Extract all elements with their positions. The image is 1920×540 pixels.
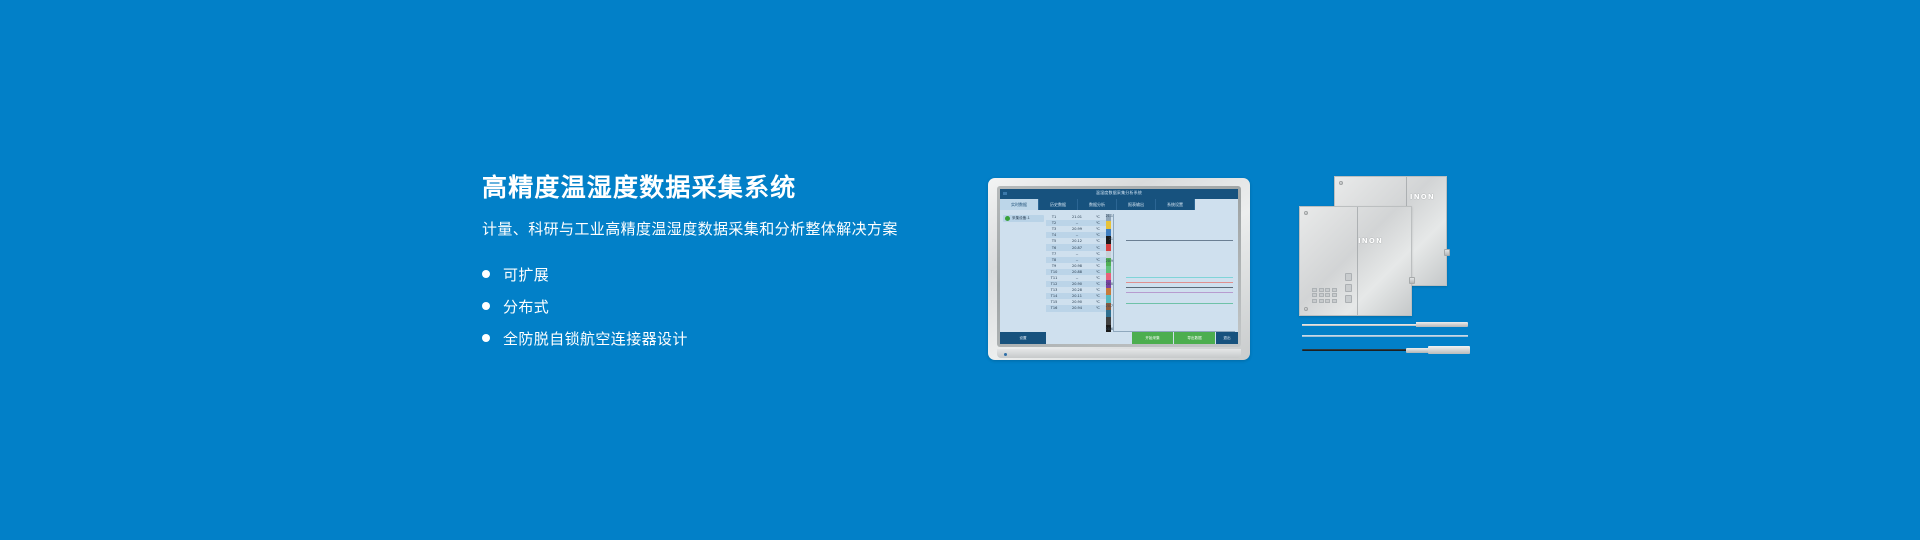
tab-bar-filler: [1195, 199, 1238, 210]
table-cell-value: 20.11: [1062, 294, 1092, 298]
device-status-icon: [1005, 216, 1010, 221]
list-item: 可扩展: [482, 258, 1042, 290]
screw-icon: [1304, 211, 1308, 215]
table-cell-value: 20.28: [1062, 288, 1092, 292]
app-body: 采集设备-1 T121.01℃T2--℃T320.99℃T4--℃T520.12…: [1000, 210, 1238, 332]
brand-logo: INON: [1410, 193, 1435, 201]
probe-shaft: [1302, 335, 1468, 337]
exit-button[interactable]: 退出: [1216, 332, 1238, 344]
table-cell-ch: T9: [1046, 264, 1062, 268]
chart-trace: [1126, 282, 1233, 283]
module-seam: [1357, 207, 1358, 315]
chart-trace: [1126, 287, 1233, 288]
app-menu-icon[interactable]: [1003, 192, 1007, 195]
probe-handle: [1416, 322, 1468, 327]
chart-trace: [1126, 303, 1233, 304]
bullet-dot-icon: [482, 270, 490, 278]
feature-label: 可扩展: [503, 264, 549, 285]
list-item: 分布式: [482, 290, 1042, 322]
y-tick-label: 20.6: [1102, 327, 1113, 331]
table-cell-value: --: [1062, 252, 1092, 256]
button-bar-spacer: [1046, 332, 1132, 344]
y-tick-label: 21: [1102, 237, 1113, 241]
table-cell-ch: T7: [1046, 252, 1062, 256]
banner-copy: 高精度温湿度数据采集系统 计量、科研与工业高精度温湿度数据采集和分析整体解决方案…: [482, 174, 1042, 354]
table-cell-ch: T6: [1046, 246, 1062, 250]
app-title-bar: 温湿度数据采集分析系统: [1000, 189, 1238, 199]
settings-button[interactable]: 设置: [1000, 332, 1046, 344]
list-item: 全防脱自锁航空连接器设计: [482, 322, 1042, 354]
temperature-probe-steel: [1302, 322, 1468, 327]
export-data-button[interactable]: 导出数据: [1174, 332, 1216, 344]
tab-report[interactable]: 报表输出: [1117, 199, 1156, 210]
table-cell-value: 20.87: [1062, 246, 1092, 250]
monitor-screen: 温湿度数据采集分析系统 实时数据 历史数据 数据分析 报表输出 系统设置: [1000, 189, 1238, 344]
page-title: 高精度温湿度数据采集系统: [482, 174, 1042, 203]
tab-bar: 实时数据 历史数据 数据分析 报表输出 系统设置: [1000, 199, 1238, 210]
y-tick-label: 20.8: [1102, 282, 1113, 286]
product-banner: 高精度温湿度数据采集系统 计量、科研与工业高精度温湿度数据采集和分析整体解决方案…: [0, 0, 1920, 540]
table-cell-value: 20.88: [1062, 270, 1092, 274]
trend-chart: 21.12120.920.820.720.6 10:0010:1010:2010…: [1113, 214, 1235, 332]
power-led-icon: [1004, 353, 1007, 356]
hardware-group: INON INON: [1296, 174, 1486, 369]
probe-ferrule: [1406, 348, 1430, 354]
device-tree-panel: 采集设备-1: [1000, 210, 1046, 332]
connector-port: [1409, 277, 1415, 284]
screw-icon: [1339, 181, 1343, 185]
y-tick-label: 21.1: [1102, 214, 1113, 218]
table-cell-value: --: [1062, 276, 1092, 280]
app-button-bar: 设置 开始采集 导出数据 退出: [1000, 332, 1238, 344]
table-cell-ch: T1: [1046, 215, 1062, 219]
table-cell-value: 20.99: [1062, 227, 1092, 231]
chart-trace: [1126, 277, 1233, 278]
tab-analysis[interactable]: 数据分析: [1078, 199, 1117, 210]
table-cell-ch: T8: [1046, 258, 1062, 262]
table-cell-ch: T14: [1046, 294, 1062, 298]
y-tick-label: 20.7: [1102, 304, 1113, 308]
screw-icon: [1304, 307, 1308, 311]
monitor-device: 温湿度数据采集分析系统 实时数据 历史数据 数据分析 报表输出 系统设置: [988, 178, 1250, 360]
tree-node-device[interactable]: 采集设备-1: [1003, 215, 1044, 222]
table-cell-ch: T2: [1046, 221, 1062, 225]
table-cell-ch: T10: [1046, 270, 1062, 274]
connector-port: [1444, 249, 1450, 256]
table-cell-value: --: [1062, 233, 1092, 237]
table-cell-value: --: [1062, 221, 1092, 225]
table-cell-value: 21.01: [1062, 215, 1092, 219]
monitor-outer-bezel: 温湿度数据采集分析系统 实时数据 历史数据 数据分析 报表输出 系统设置: [988, 178, 1250, 360]
monitor-stand-foot: [997, 349, 1241, 358]
feature-list: 可扩展 分布式 全防脱自锁航空连接器设计: [482, 258, 1042, 354]
table-cell-value: 20.98: [1062, 264, 1092, 268]
chart-y-axis: 21.12120.920.820.720.6: [1102, 214, 1114, 331]
monitor-inner-bezel: 温湿度数据采集分析系统 实时数据 历史数据 数据分析 报表输出 系统设置: [997, 186, 1241, 347]
bullet-dot-icon: [482, 334, 490, 342]
table-cell-ch: T11: [1046, 276, 1062, 280]
chart-trace: [1126, 292, 1233, 293]
temperature-probe-cabled: [1302, 346, 1468, 354]
feature-label: 全防脱自锁航空连接器设计: [503, 328, 688, 349]
table-cell-ch: T12: [1046, 282, 1062, 286]
port-bank-icon: [1345, 273, 1352, 303]
probe-cable: [1302, 349, 1410, 351]
temperature-probe-thin: [1302, 334, 1468, 337]
tab-realtime[interactable]: 实时数据: [1000, 199, 1039, 210]
tree-node-label: 采集设备-1: [1012, 216, 1030, 221]
probe-body: [1428, 346, 1470, 354]
acquisition-module-front: INON: [1299, 206, 1412, 316]
channel-table[interactable]: T121.01℃T2--℃T320.99℃T4--℃T520.12℃T620.8…: [1046, 210, 1106, 332]
page-subtitle: 计量、科研与工业高精度温湿度数据采集和分析整体解决方案: [482, 220, 1042, 240]
table-cell-ch: T13: [1046, 288, 1062, 292]
tab-history[interactable]: 历史数据: [1039, 199, 1078, 210]
table-cell-value: --: [1062, 258, 1092, 262]
table-cell-ch: T16: [1046, 306, 1062, 310]
table-cell-ch: T4: [1046, 233, 1062, 237]
table-cell-ch: T3: [1046, 227, 1062, 231]
table-cell-ch: T5: [1046, 239, 1062, 243]
table-cell-ch: T15: [1046, 300, 1062, 304]
bullet-dot-icon: [482, 302, 490, 310]
tab-settings[interactable]: 系统设置: [1156, 199, 1195, 210]
table-row[interactable]: T1620.94℃: [1046, 305, 1106, 311]
app-title: 温湿度数据采集分析系统: [1096, 190, 1142, 196]
y-tick-label: 20.9: [1102, 259, 1113, 263]
start-capture-button[interactable]: 开始采集: [1132, 332, 1174, 344]
feature-label: 分布式: [503, 296, 549, 317]
table-cell-value: 20.90: [1062, 282, 1092, 286]
table-cell-value: 20.12: [1062, 239, 1092, 243]
dip-switch-grid-icon: [1312, 288, 1337, 303]
probe-shaft: [1302, 324, 1420, 326]
table-cell-value: 20.90: [1062, 300, 1092, 304]
brand-logo: INON: [1358, 237, 1383, 245]
table-cell-value: 20.94: [1062, 306, 1092, 310]
chart-trace: [1126, 240, 1233, 241]
